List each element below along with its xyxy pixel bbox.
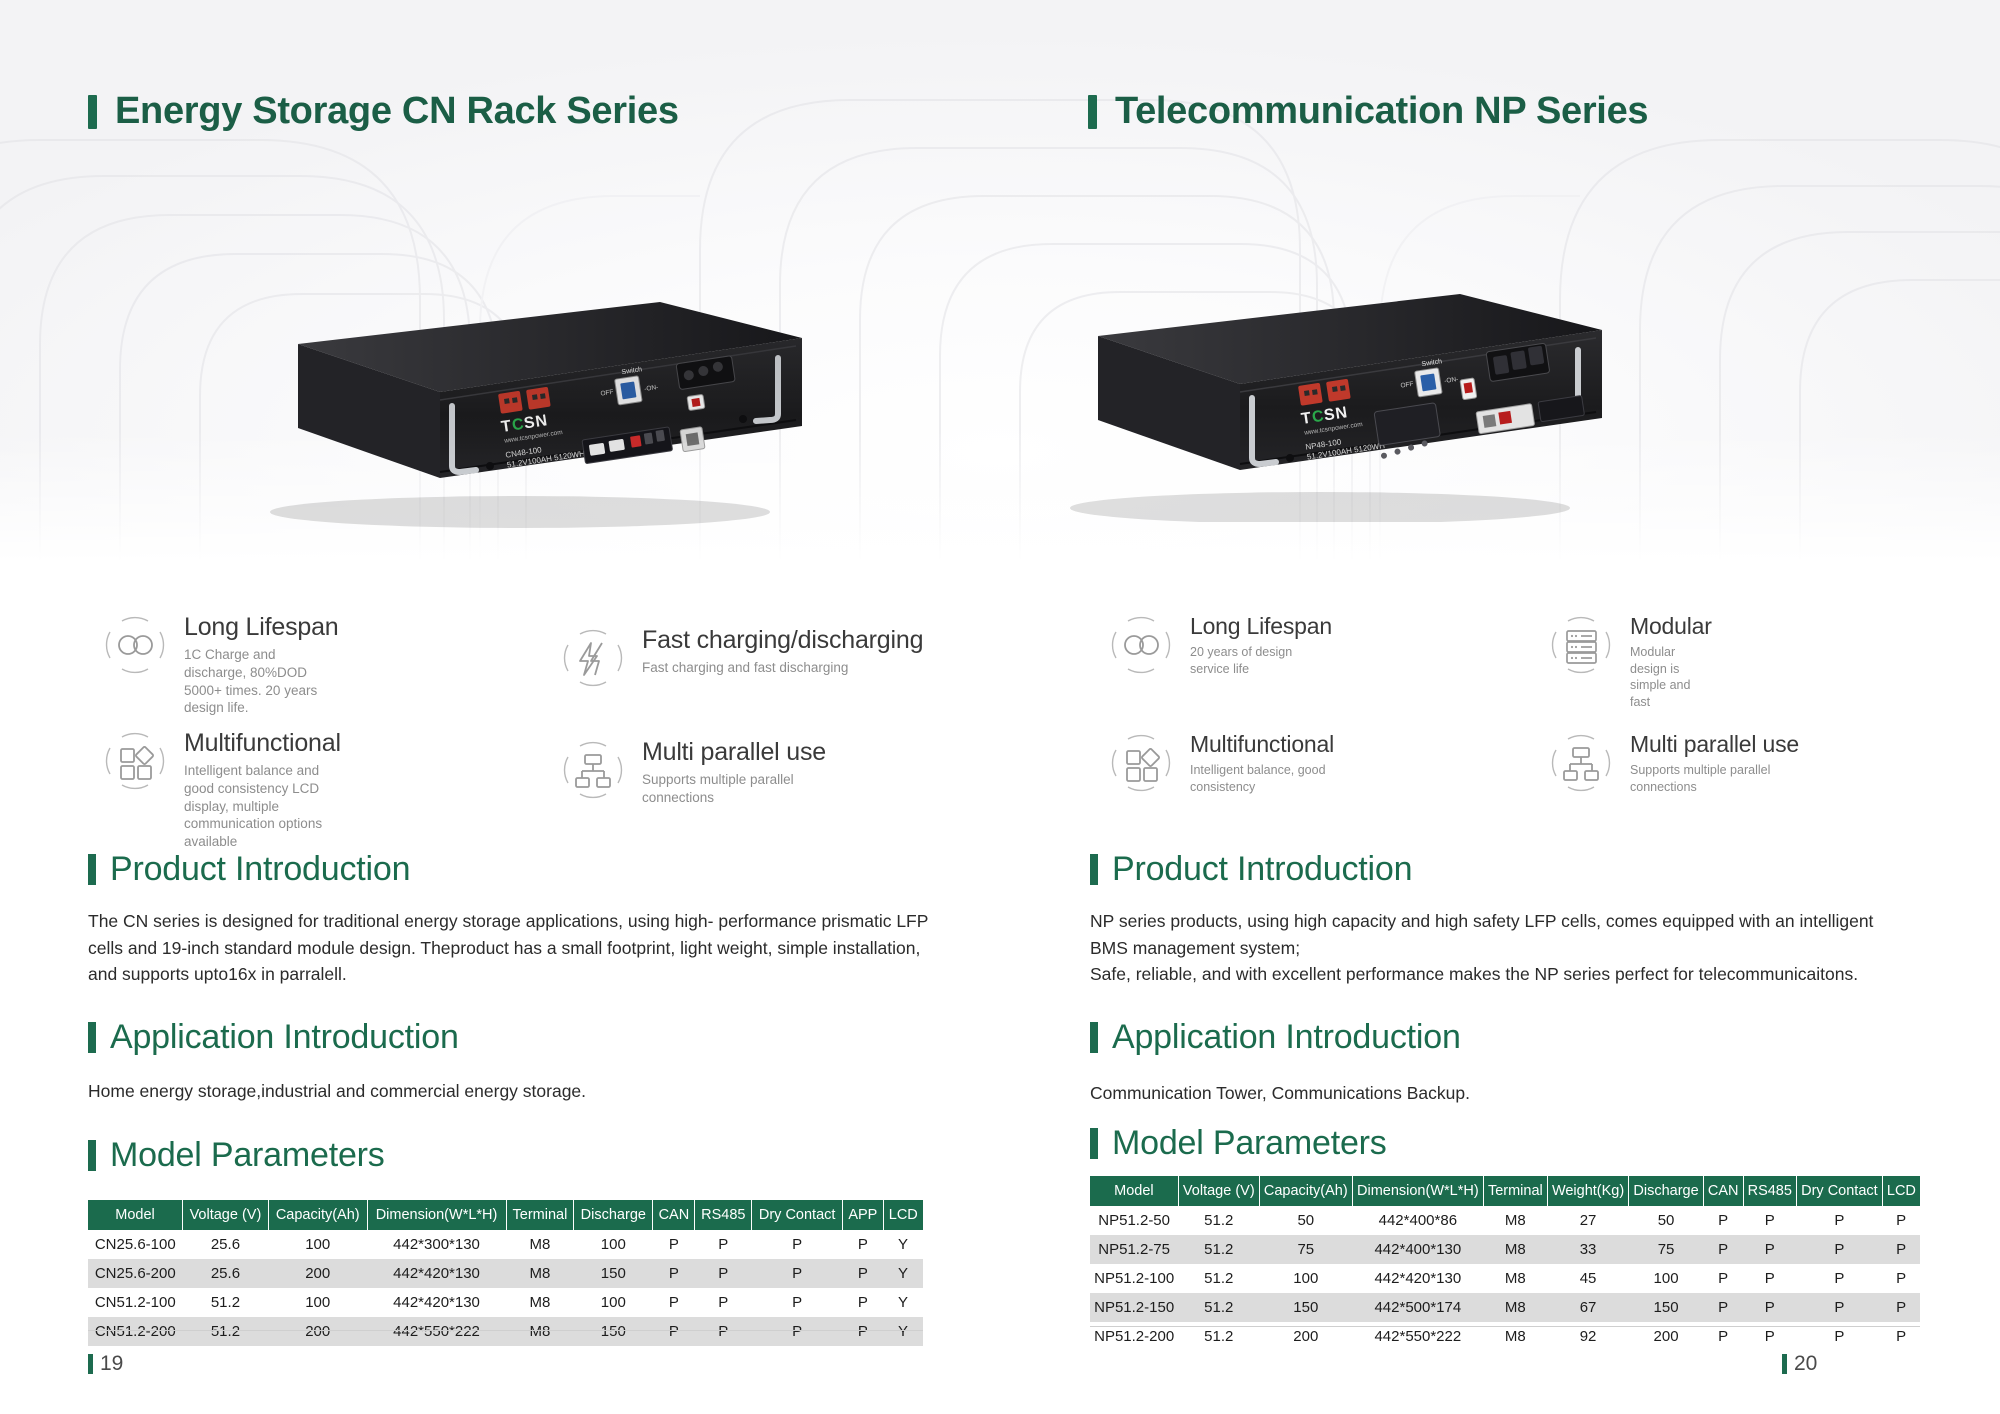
- table-cell: P: [843, 1288, 883, 1317]
- table-cell: P: [843, 1317, 883, 1346]
- cn-rack-battery-illustration: T C SN www.tcsnpower.com CN48-100 51.2V1…: [190, 280, 830, 530]
- table-cell: 45: [1547, 1264, 1628, 1293]
- page-number-text: 20: [1794, 1352, 1817, 1376]
- table-cell: P: [695, 1230, 752, 1259]
- heading-text: Model Parameters: [1112, 1124, 1387, 1163]
- heading-accent-bar: [88, 854, 96, 885]
- feature-title: Multi parallel use: [642, 738, 826, 766]
- table-cell: Y: [883, 1317, 923, 1346]
- title-accent-bar: [88, 95, 97, 129]
- table-col-header: Terminal: [1483, 1176, 1547, 1206]
- table-col-header: APP: [843, 1200, 883, 1230]
- table-cell: M8: [506, 1259, 574, 1288]
- table-col-header: Dry Contact: [1797, 1176, 1883, 1206]
- feature-desc: 1C Charge and discharge, 80%DOD 5000+ ti…: [184, 646, 338, 717]
- table-cell: 442*420*130: [367, 1259, 506, 1288]
- table-col-header: Discharge: [574, 1200, 653, 1230]
- table-cell: P: [1743, 1293, 1796, 1322]
- table-cell: 100: [268, 1288, 367, 1317]
- table-cell: P: [653, 1230, 695, 1259]
- np-telecom-battery-illustration: T C SN www.tcsnpower.com NP48-100 51.2V1…: [990, 272, 1630, 522]
- feature-text: Multi parallel use Supports multiple par…: [642, 737, 826, 807]
- feature-long-lifespan: Long Lifespan 20 years of design service…: [1108, 612, 1332, 678]
- infinity-icon: [1108, 612, 1174, 678]
- left-page: Energy Storage CN Rack Series: [0, 0, 1000, 1414]
- table-body: CN25.6-10025.6100442*300*130M8100PPPPYCN…: [88, 1230, 923, 1346]
- table-cell: 100: [574, 1288, 653, 1317]
- table-cell: 200: [268, 1259, 367, 1288]
- right-application-body: Communication Tower, Communications Back…: [1090, 1080, 1890, 1107]
- table-cell: 25.6: [183, 1259, 269, 1288]
- table-cell: 442*500*174: [1352, 1293, 1483, 1322]
- infinity-icon: [102, 612, 168, 678]
- table-cell: P: [1882, 1264, 1920, 1293]
- table-cell: P: [752, 1259, 843, 1288]
- server-rack-icon: [1548, 612, 1614, 678]
- table-cell: 51.2: [1178, 1264, 1259, 1293]
- feature-text: Multifunctional Intelligent balance and …: [184, 728, 341, 851]
- table-cell: Y: [883, 1259, 923, 1288]
- table-row: CN25.6-10025.6100442*300*130M8100PPPPY: [88, 1230, 923, 1259]
- left-product-intro-heading: Product Introduction: [88, 850, 410, 889]
- right-product-photo: T C SN www.tcsnpower.com NP48-100 51.2V1…: [990, 272, 1630, 522]
- right-application-heading: Application Introduction: [1090, 1018, 1461, 1057]
- table-cell: 50: [1259, 1206, 1352, 1235]
- table-cell: P: [653, 1317, 695, 1346]
- table-cell: Y: [883, 1288, 923, 1317]
- table-cell: P: [695, 1259, 752, 1288]
- feature-text: Long Lifespan 20 years of design service…: [1190, 612, 1332, 677]
- heading-text: Product Introduction: [1112, 850, 1412, 889]
- feature-title: Long Lifespan: [184, 613, 338, 641]
- feature-text: Modular Modular design is simple and fas…: [1630, 612, 1712, 710]
- right-product-intro-body: NP series products, using high capacity …: [1090, 908, 1890, 988]
- left-series-title: Energy Storage CN Rack Series: [88, 90, 679, 133]
- table-cell: NP51.2-75: [1090, 1235, 1178, 1264]
- table-cell: 51.2: [1178, 1293, 1259, 1322]
- table-col-header: Model: [88, 1200, 183, 1230]
- table-cell: P: [1882, 1206, 1920, 1235]
- right-series-title-text: Telecommunication NP Series: [1115, 90, 1648, 133]
- table-cell: 50: [1629, 1206, 1703, 1235]
- table-cell: 51.2: [183, 1317, 269, 1346]
- svg-text:SN: SN: [1323, 404, 1350, 424]
- table-cell: 75: [1259, 1235, 1352, 1264]
- right-page-number: 20: [1782, 1352, 1817, 1376]
- left-series-title-text: Energy Storage CN Rack Series: [115, 90, 679, 133]
- table-cell: 200: [268, 1317, 367, 1346]
- feature-title: Multifunctional: [184, 729, 341, 757]
- table-header-row: ModelVoltage (V)Capacity(Ah)Dimension(W*…: [88, 1200, 923, 1230]
- right-page: Telecommunication NP Series: [1000, 0, 2000, 1414]
- table-cell: P: [1743, 1235, 1796, 1264]
- hierarchy-icon: [560, 737, 626, 803]
- left-application-body: Home energy storage,industrial and comme…: [88, 1078, 933, 1105]
- table-cell: 150: [1629, 1293, 1703, 1322]
- table-col-header: Model: [1090, 1176, 1178, 1206]
- table-underline: [1090, 1326, 1920, 1327]
- table-cell: P: [1797, 1206, 1883, 1235]
- page-number-text: 19: [100, 1352, 123, 1376]
- table-col-header: RS485: [695, 1200, 752, 1230]
- right-model-params-heading: Model Parameters: [1090, 1124, 1387, 1163]
- feature-title: Fast charging/discharging: [642, 626, 923, 654]
- feature-text: Long Lifespan 1C Charge and discharge, 8…: [184, 612, 338, 717]
- feature-desc: 20 years of design service life: [1190, 644, 1332, 677]
- table-cell: 150: [574, 1317, 653, 1346]
- table-col-header: Voltage (V): [183, 1200, 269, 1230]
- table-cell: P: [843, 1259, 883, 1288]
- feature-text: Multifunctional Intelligent balance, goo…: [1190, 730, 1334, 795]
- table-col-header: Dimension(W*L*H): [367, 1200, 506, 1230]
- title-accent-bar: [1088, 95, 1097, 129]
- table-cell: NP51.2-150: [1090, 1293, 1178, 1322]
- left-product-photo: T C SN www.tcsnpower.com CN48-100 51.2V1…: [190, 280, 830, 530]
- feature-multifunctional: Multifunctional Intelligent balance and …: [102, 728, 341, 851]
- table-col-header: LCD: [883, 1200, 923, 1230]
- table-cell: P: [752, 1288, 843, 1317]
- table-row: CN51.2-20051.2200442*550*222M8150PPPPY: [88, 1317, 923, 1346]
- table-cell: P: [653, 1288, 695, 1317]
- feature-title: Modular: [1630, 613, 1712, 639]
- table-cell: 442*400*130: [1352, 1235, 1483, 1264]
- table-cell: 442*300*130: [367, 1230, 506, 1259]
- table-cell: NP51.2-50: [1090, 1206, 1178, 1235]
- left-application-heading: Application Introduction: [88, 1018, 459, 1057]
- table-cell: P: [843, 1230, 883, 1259]
- table-cell: 75: [1629, 1235, 1703, 1264]
- table-cell: P: [1797, 1293, 1883, 1322]
- feature-text: Fast charging/discharging Fast charging …: [642, 625, 923, 677]
- table-cell: M8: [1483, 1206, 1547, 1235]
- table-col-header: RS485: [1743, 1176, 1796, 1206]
- table-cell: P: [1703, 1293, 1743, 1322]
- left-model-params-heading: Model Parameters: [88, 1136, 385, 1175]
- table-cell: P: [752, 1230, 843, 1259]
- table-cell: NP51.2-100: [1090, 1264, 1178, 1293]
- table-cell: 33: [1547, 1235, 1628, 1264]
- table-cell: M8: [1483, 1264, 1547, 1293]
- table-row: NP51.2-15051.2150442*500*174M867150PPPP: [1090, 1293, 1920, 1322]
- table-cell: 100: [1629, 1264, 1703, 1293]
- table-cell: P: [1882, 1293, 1920, 1322]
- table-cell: 27: [1547, 1206, 1628, 1235]
- table-cell: CN51.2-100: [88, 1288, 183, 1317]
- heading-accent-bar: [1090, 1022, 1098, 1053]
- heading-accent-bar: [1090, 1128, 1098, 1159]
- table-cell: P: [1743, 1264, 1796, 1293]
- table-cell: P: [1703, 1235, 1743, 1264]
- table-cell: 442*400*86: [1352, 1206, 1483, 1235]
- table-cell: P: [1703, 1206, 1743, 1235]
- table-row: NP51.2-10051.2100442*420*130M845100PPPP: [1090, 1264, 1920, 1293]
- heading-text: Model Parameters: [110, 1136, 385, 1175]
- page-accent-bar: [1782, 1354, 1787, 1374]
- table-cell: P: [1797, 1264, 1883, 1293]
- left-page-number: 19: [88, 1352, 123, 1376]
- heading-accent-bar: [1090, 854, 1098, 885]
- table-cell: P: [1797, 1235, 1883, 1264]
- feature-long-lifespan: Long Lifespan 1C Charge and discharge, 8…: [102, 612, 338, 717]
- page-accent-bar: [88, 1354, 93, 1374]
- table-cell: P: [1743, 1206, 1796, 1235]
- table-cell: M8: [506, 1317, 574, 1346]
- table-cell: 51.2: [1178, 1206, 1259, 1235]
- heading-accent-bar: [88, 1022, 96, 1053]
- table-cell: 150: [1259, 1293, 1352, 1322]
- table-cell: M8: [1483, 1235, 1547, 1264]
- feature-multi-parallel: Multi parallel use Supports multiple par…: [1548, 730, 1799, 796]
- table-col-header: CAN: [1703, 1176, 1743, 1206]
- table-cell: CN25.6-100: [88, 1230, 183, 1259]
- table-cell: P: [695, 1317, 752, 1346]
- table-cell: 51.2: [183, 1288, 269, 1317]
- table-cell: 25.6: [183, 1230, 269, 1259]
- table-col-header: LCD: [1882, 1176, 1920, 1206]
- feature-desc: Supports multiple parallel connections: [1630, 762, 1799, 795]
- table-cell: 100: [574, 1230, 653, 1259]
- right-model-parameters-table: ModelVoltage (V)Capacity(Ah)Dimension(W*…: [1090, 1176, 1920, 1351]
- table-cell: P: [1882, 1235, 1920, 1264]
- table-col-header: Discharge: [1629, 1176, 1703, 1206]
- table-cell: P: [695, 1288, 752, 1317]
- feature-text: Multi parallel use Supports multiple par…: [1630, 730, 1799, 795]
- lightning-bolt-icon: [560, 625, 626, 691]
- feature-desc: Supports multiple parallel connections: [642, 771, 826, 807]
- table-col-header: CAN: [653, 1200, 695, 1230]
- left-product-intro-body: The CN series is designed for traditiona…: [88, 908, 933, 988]
- feature-desc: Modular design is simple and fast: [1630, 644, 1712, 710]
- heading-text: Product Introduction: [110, 850, 410, 889]
- table-cell: 100: [1259, 1264, 1352, 1293]
- shapes-icon: [102, 728, 168, 794]
- table-cell: 100: [268, 1230, 367, 1259]
- right-product-intro-heading: Product Introduction: [1090, 850, 1412, 889]
- feature-multifunctional: Multifunctional Intelligent balance, goo…: [1108, 730, 1334, 796]
- table-cell: M8: [506, 1230, 574, 1259]
- table-cell: M8: [506, 1288, 574, 1317]
- feature-modular: Modular Modular design is simple and fas…: [1548, 612, 1712, 710]
- table-cell: 442*550*222: [367, 1317, 506, 1346]
- feature-desc: Fast charging and fast discharging: [642, 659, 923, 677]
- table-col-header: Capacity(Ah): [1259, 1176, 1352, 1206]
- table-col-header: Capacity(Ah): [268, 1200, 367, 1230]
- table-cell: 67: [1547, 1293, 1628, 1322]
- feature-title: Long Lifespan: [1190, 613, 1332, 639]
- table-col-header: Voltage (V): [1178, 1176, 1259, 1206]
- shapes-icon: [1108, 730, 1174, 796]
- table-cell: P: [752, 1317, 843, 1346]
- table-header-row: ModelVoltage (V)Capacity(Ah)Dimension(W*…: [1090, 1176, 1920, 1206]
- table-cell: 442*420*130: [367, 1288, 506, 1317]
- feature-title: Multi parallel use: [1630, 731, 1799, 757]
- table-col-header: Terminal: [506, 1200, 574, 1230]
- table-cell: P: [1703, 1264, 1743, 1293]
- table-cell: CN25.6-200: [88, 1259, 183, 1288]
- table-cell: 150: [574, 1259, 653, 1288]
- table-cell: Y: [883, 1230, 923, 1259]
- table-row: CN25.6-20025.6200442*420*130M8150PPPPY: [88, 1259, 923, 1288]
- table-row: CN51.2-10051.2100442*420*130M8100PPPPY: [88, 1288, 923, 1317]
- table-cell: M8: [1483, 1293, 1547, 1322]
- table-col-header: Dimension(W*L*H): [1352, 1176, 1483, 1206]
- table-cell: P: [653, 1259, 695, 1288]
- heading-accent-bar: [88, 1140, 96, 1171]
- heading-text: Application Introduction: [1112, 1018, 1461, 1057]
- table-row: NP51.2-5051.250442*400*86M82750PPPP: [1090, 1206, 1920, 1235]
- table-underline: [88, 1330, 923, 1331]
- hierarchy-icon: [1548, 730, 1614, 796]
- table-cell: 51.2: [1178, 1235, 1259, 1264]
- heading-text: Application Introduction: [110, 1018, 459, 1057]
- right-series-title: Telecommunication NP Series: [1088, 90, 1648, 133]
- feature-multi-parallel: Multi parallel use Supports multiple par…: [560, 737, 826, 807]
- left-model-parameters-table: ModelVoltage (V)Capacity(Ah)Dimension(W*…: [88, 1200, 923, 1346]
- feature-title: Multifunctional: [1190, 731, 1334, 757]
- table-col-header: Dry Contact: [752, 1200, 843, 1230]
- feature-desc: Intelligent balance, good consistency: [1190, 762, 1334, 795]
- table-row: NP51.2-7551.275442*400*130M83375PPPP: [1090, 1235, 1920, 1264]
- table-body: NP51.2-5051.250442*400*86M82750PPPPNP51.…: [1090, 1206, 1920, 1351]
- table-cell: CN51.2-200: [88, 1317, 183, 1346]
- table-cell: 442*420*130: [1352, 1264, 1483, 1293]
- feature-fast-charging: Fast charging/discharging Fast charging …: [560, 625, 923, 691]
- table-col-header: Weight(Kg): [1547, 1176, 1628, 1206]
- feature-desc: Intelligent balance and good consistency…: [184, 762, 341, 851]
